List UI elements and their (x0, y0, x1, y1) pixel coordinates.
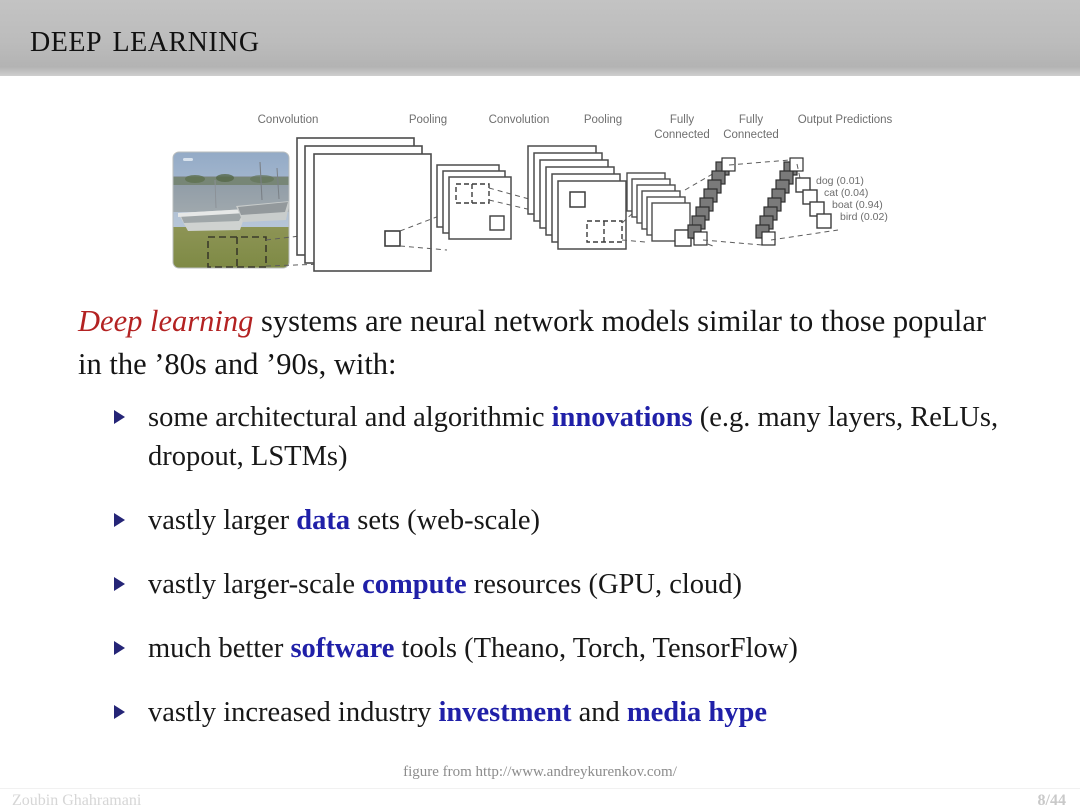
bullet-text-mid: and (571, 697, 626, 728)
stage-label-output-predictions: Output Predictions (798, 114, 893, 126)
lead-emphasis: Deep learning (78, 304, 253, 338)
triangle-bullet-icon (114, 577, 125, 591)
bullet-keyword: software (290, 633, 394, 664)
stage-label-fully-connected-1-line1: Fully (670, 114, 695, 126)
slide-header: Deep Learning (0, 0, 1080, 78)
triangle-bullet-icon (114, 705, 125, 719)
input-image (173, 152, 290, 268)
bullet-text-post: tools (Theano, Torch, TensorFlow) (394, 633, 797, 664)
bullet-keyword: data (296, 505, 350, 536)
list-item: much better software tools (Theano, Torc… (112, 629, 1012, 668)
bullet-keyword: investment (438, 697, 571, 728)
bullet-text-pre: vastly increased industry (148, 697, 438, 728)
lead-paragraph: Deep learning systems are neural network… (78, 300, 1008, 386)
stage-label-pooling-2: Pooling (584, 114, 622, 126)
stage-label-pooling-1: Pooling (409, 114, 447, 126)
list-item: some architectural and algorithmic innov… (112, 398, 1012, 476)
footer-author: Zoubin Ghahramani (12, 792, 141, 810)
bullet-text-post: resources (GPU, cloud) (467, 569, 742, 600)
conv1-activation-unit (385, 231, 400, 246)
bullet-text-post: sets (web-scale) (350, 505, 540, 536)
footer-page-number: 8/44 (1038, 792, 1066, 810)
list-item: vastly larger data sets (web-scale) (112, 501, 1012, 540)
prediction-label-dog: dog (0.01) (816, 175, 864, 187)
bullet-keyword: innovations (552, 402, 693, 433)
bullet-list: some architectural and algorithmic innov… (112, 398, 1012, 732)
cnn-architecture-diagram: Convolution Pooling Convolution Pooling … (0, 80, 1080, 285)
stage-label-convolution-2: Convolution (489, 114, 550, 126)
bullet-text-pre: vastly larger-scale (148, 569, 362, 600)
bullet-text-pre: some architectural and algorithmic (148, 402, 552, 433)
list-item: vastly larger-scale compute resources (G… (112, 565, 1012, 604)
stage-label-fully-connected-2-line2: Connected (723, 129, 779, 141)
cnn-diagram-svg: Convolution Pooling Convolution Pooling … (0, 80, 1080, 285)
figure-caption: figure from http://www.andreykurenkov.co… (0, 764, 1080, 781)
stage-label-fully-connected-1-line2: Connected (654, 129, 710, 141)
stage-label-fully-connected-2-line1: Fully (739, 114, 764, 126)
prediction-label-cat: cat (0.04) (824, 187, 868, 199)
page-title: Deep Learning (30, 14, 260, 61)
bullet-text-pre: much better (148, 633, 290, 664)
conv1-feature-maps (297, 138, 431, 271)
bullet-text-pre: vastly larger (148, 505, 296, 536)
prediction-label-boat: boat (0.94) (832, 199, 883, 211)
list-item: vastly increased industry investment and… (112, 693, 1012, 732)
slide-footer: Zoubin Ghahramani 8/44 (0, 788, 1080, 812)
fc2-units (756, 158, 803, 245)
triangle-bullet-icon (114, 410, 125, 424)
triangle-bullet-icon (114, 513, 125, 527)
fc1-units (688, 158, 735, 245)
prediction-label-bird: bird (0.02) (840, 211, 888, 223)
triangle-bullet-icon (114, 641, 125, 655)
stage-label-convolution-1: Convolution (258, 114, 319, 126)
bullet-keyword: compute (362, 569, 466, 600)
bullet-keyword-secondary: media hype (627, 697, 767, 728)
